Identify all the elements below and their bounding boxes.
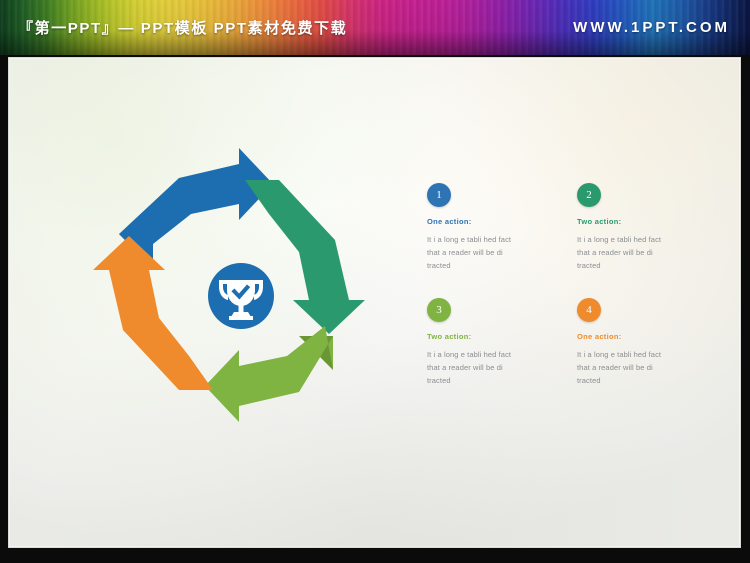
item-4-body-line-3: tracted bbox=[577, 374, 705, 387]
arrow-left-orange[interactable] bbox=[93, 236, 213, 390]
screenshot-root: 『第一PPT』— PPT模板 PPT素材免费下载 WWW.1PPT.COM bbox=[0, 0, 750, 563]
item-4-body-line-1: It i a long e tabli hed fact bbox=[577, 348, 705, 361]
item-3-body: It i a long e tabli hed fact that a read… bbox=[427, 348, 555, 387]
slide-canvas: 1 One action: It i a long e tabli hed fa… bbox=[8, 57, 741, 548]
item-3-body-line-2: that a reader will be di bbox=[427, 361, 555, 374]
item-3-number: 3 bbox=[436, 304, 442, 316]
item-3: 3 Two action: It i a long e tabli hed fa… bbox=[427, 298, 567, 387]
item-2: 2 Two action: It i a long e tabli hed fa… bbox=[577, 183, 717, 272]
item-1-number-badge[interactable]: 1 bbox=[427, 183, 451, 207]
arrow-bottom-green[interactable] bbox=[205, 326, 333, 422]
items-grid: 1 One action: It i a long e tabli hed fa… bbox=[427, 183, 717, 387]
center-badge[interactable] bbox=[208, 263, 274, 329]
item-1-body: It i a long e tabli hed fact that a read… bbox=[427, 233, 555, 272]
item-1-body-line-1: It i a long e tabli hed fact bbox=[427, 233, 555, 246]
arrow-bottom-green-body bbox=[205, 326, 333, 422]
item-2-number-badge[interactable]: 2 bbox=[577, 183, 601, 207]
item-1-body-line-2: that a reader will be di bbox=[427, 246, 555, 259]
item-3-title: Two action: bbox=[427, 332, 567, 341]
arrow-left-orange-body bbox=[93, 236, 213, 390]
item-2-body: It i a long e tabli hed fact that a read… bbox=[577, 233, 705, 272]
item-1: 1 One action: It i a long e tabli hed fa… bbox=[427, 183, 567, 272]
item-4-title: One action: bbox=[577, 332, 717, 341]
item-4-number-badge[interactable]: 4 bbox=[577, 298, 601, 322]
item-3-body-line-3: tracted bbox=[427, 374, 555, 387]
banner-website: WWW.1PPT.COM bbox=[573, 0, 730, 55]
cycle-diagram bbox=[91, 146, 391, 446]
item-3-body-line-1: It i a long e tabli hed fact bbox=[427, 348, 555, 361]
item-2-title: Two action: bbox=[577, 217, 717, 226]
item-1-title: One action: bbox=[427, 217, 567, 226]
item-2-body-line-3: tracted bbox=[577, 259, 705, 272]
banner-title: 『第一PPT』— PPT模板 PPT素材免费下载 bbox=[18, 0, 347, 55]
item-3-number-badge[interactable]: 3 bbox=[427, 298, 451, 322]
item-4: 4 One action: It i a long e tabli hed fa… bbox=[577, 298, 717, 387]
item-4-number: 4 bbox=[586, 304, 592, 316]
cycle-svg bbox=[91, 146, 391, 446]
site-banner: 『第一PPT』— PPT模板 PPT素材免费下载 WWW.1PPT.COM bbox=[0, 0, 750, 55]
item-4-body-line-2: that a reader will be di bbox=[577, 361, 705, 374]
item-1-body-line-3: tracted bbox=[427, 259, 555, 272]
item-1-number: 1 bbox=[436, 189, 442, 201]
item-2-body-line-2: that a reader will be di bbox=[577, 246, 705, 259]
item-2-body-line-1: It i a long e tabli hed fact bbox=[577, 233, 705, 246]
item-4-body: It i a long e tabli hed fact that a read… bbox=[577, 348, 705, 387]
item-2-number: 2 bbox=[586, 189, 592, 201]
